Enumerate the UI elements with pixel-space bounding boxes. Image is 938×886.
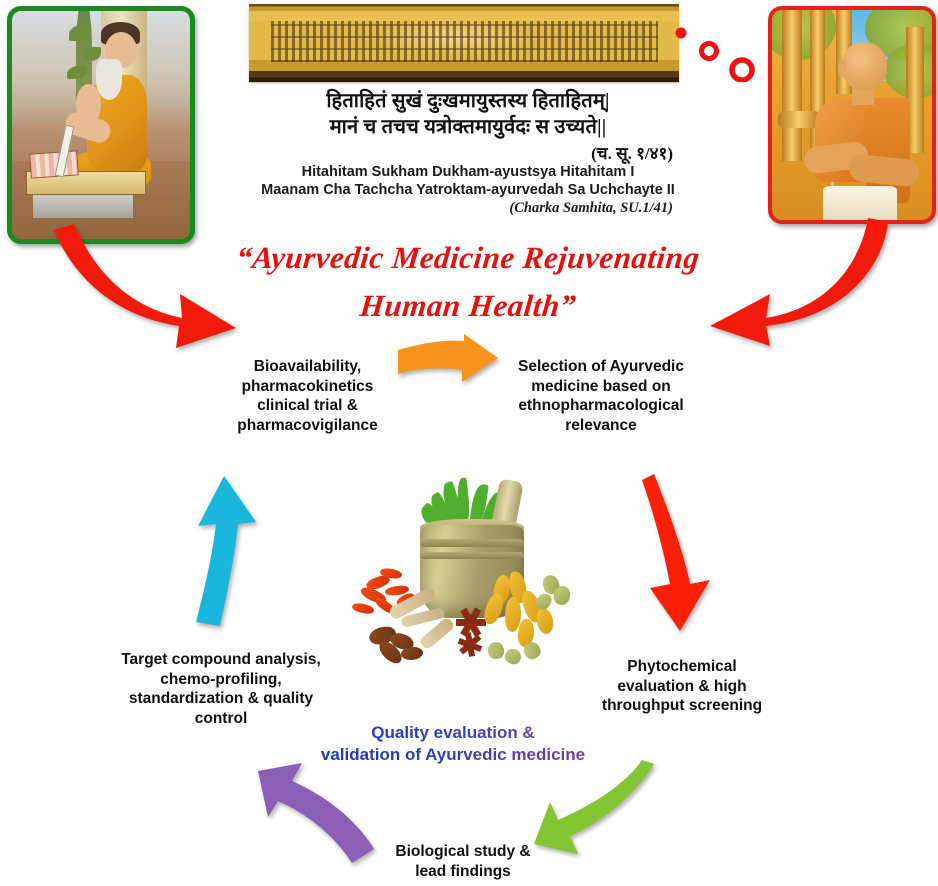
cyan-arrow: [190, 474, 262, 630]
orange-arrow: [396, 334, 500, 390]
cycle-step-selection: Selection of Ayurvedic medicine based on…: [495, 357, 707, 435]
cycle-step-bioavailability: Bioavailability, pharmacokinetics clinic…: [205, 357, 410, 435]
red-dot-small: [676, 28, 687, 39]
left-entry-arrow: [52, 222, 242, 352]
sanskrit-verse-line-1: हिताहितं सुखं दुःखमायुस्तस्य हिताहितम्|: [213, 88, 723, 114]
cycle-step-target-compound: Target compound analysis, chemo-profilin…: [97, 650, 345, 728]
mortar-pestle-herbs-image: [336, 478, 608, 664]
purple-arrow: [252, 757, 382, 865]
cycle-step-biological: Biological study & lead findings: [358, 842, 568, 881]
red-dots-decoration: [670, 22, 760, 82]
figure-canvas: हिताहितं सुखं दुःखमायुस्तस्य हिताहितम्| …: [0, 0, 938, 886]
left-sage-photo: [7, 6, 195, 244]
right-sage-photo: [768, 6, 936, 224]
cycle-step-phytochemical: Phytochemical evaluation & high throughp…: [582, 657, 782, 716]
sanskrit-reference: (च. सू. १/४१): [383, 141, 673, 164]
figure-title-line-1: “Ayurvedic Medicine Rejuvenating: [160, 234, 775, 282]
transliteration-line-1: Hitahitam Sukham Dukham-ayustsya Hitahit…: [193, 163, 743, 182]
red-down-arrow: [640, 470, 720, 635]
transliteration-line-2: Maanam Cha Tachcha Yatroktam-ayurvedah S…: [193, 181, 743, 200]
right-entry-arrow: [700, 216, 890, 348]
red-ring-medium: [702, 44, 717, 59]
red-ring-large: [732, 60, 752, 80]
sanskrit-verse-line-2: मानं च तचच यत्रोक्तमायुर्वदः स उच्यते||: [213, 114, 723, 140]
source-citation: (Charka Samhita, SU.1/41): [383, 200, 673, 217]
figure-title-line-2: Human Health”: [160, 282, 775, 330]
manuscript-strip-image: [249, 4, 679, 82]
